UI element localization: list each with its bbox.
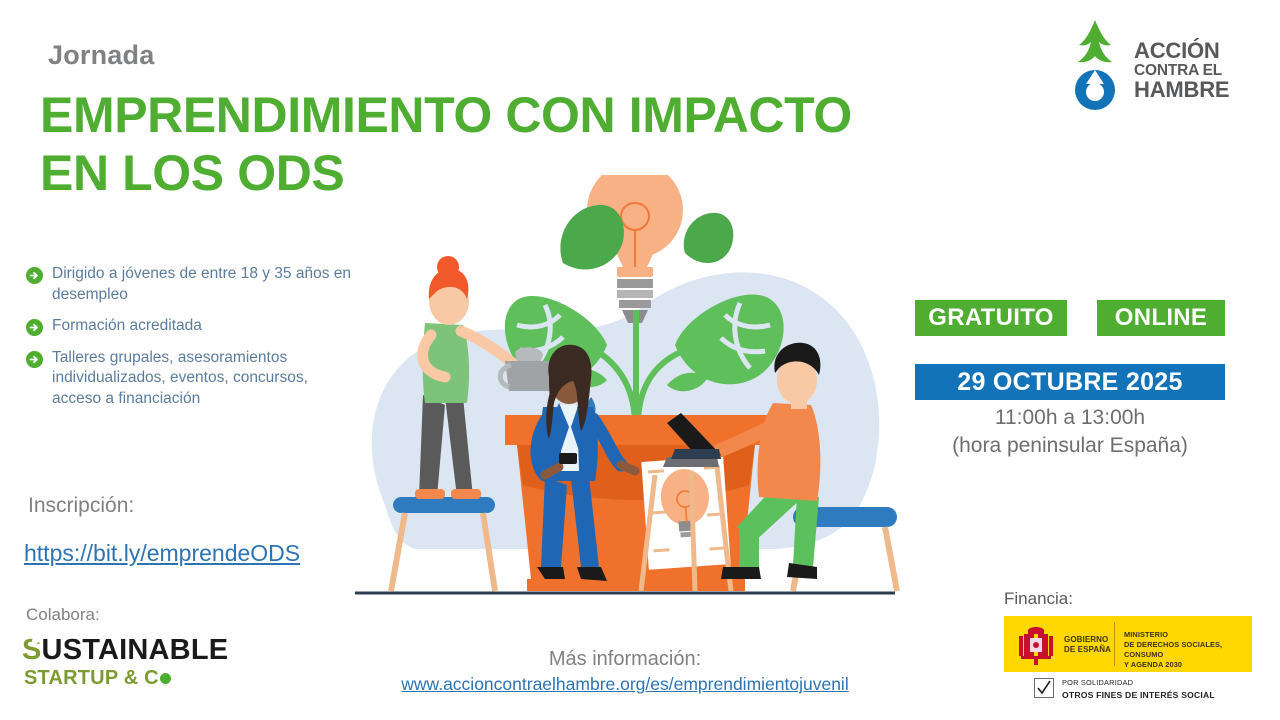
- logo-word-1: ACCIÓN: [1134, 40, 1229, 63]
- sustainable-logo-end-dot-icon: [160, 673, 171, 684]
- gobierno-de-espana-logo: GOBIERNO DE ESPAÑA MINISTERIO DE DERECHO…: [1004, 616, 1252, 704]
- sustainable-logo-line-2: STARTUP & C: [24, 667, 171, 690]
- gob-ministry-text: MINISTERIO DE DERECHOS SOCIALES, CONSUMO…: [1124, 630, 1252, 670]
- badge-event-date: 29 OCTUBRE 2025: [915, 364, 1225, 400]
- checkmark-icon: [1036, 680, 1052, 696]
- badge-online: ONLINE: [1097, 300, 1225, 336]
- list-item: Dirigido a jóvenes de entre 18 y 35 años…: [26, 264, 356, 305]
- more-info-link[interactable]: www.accioncontraelhambre.org/es/emprendi…: [345, 674, 905, 695]
- event-timezone: (hora peninsular España): [915, 432, 1225, 460]
- sustainable-logo-rest: USTAINABLE: [42, 634, 229, 666]
- registration-label: Inscripción:: [28, 494, 134, 518]
- more-info-label: Más información:: [345, 648, 905, 671]
- collaborator-label: Colabora:: [26, 605, 100, 625]
- ministry-line-1: MINISTERIO: [1124, 630, 1252, 640]
- page-title-line-1: EMPRENDIMIENTO CON IMPACTO: [40, 86, 1020, 144]
- badge-gratuito: GRATUITO: [915, 300, 1067, 336]
- solidarity-checkbox: [1034, 678, 1054, 698]
- feature-list: Dirigido a jóvenes de entre 18 y 35 años…: [26, 264, 356, 421]
- more-info-block: Más información: www.accioncontraelhambr…: [345, 648, 905, 695]
- funding-label: Financia:: [1004, 589, 1073, 609]
- list-item: Talleres grupales, asesoramientos indivi…: [26, 348, 356, 410]
- spain-coat-of-arms-icon: [1016, 624, 1056, 666]
- solidarity-text: POR SOLIDARIDAD OTROS FINES DE INTERÉS S…: [1062, 678, 1215, 701]
- accion-contra-el-hambre-logo: ACCIÓN CONTRA EL HAMBRE: [1062, 18, 1262, 114]
- list-item: Formación acreditada: [26, 316, 356, 337]
- logo-wordmark: ACCIÓN CONTRA EL HAMBRE: [1134, 40, 1229, 101]
- entrepreneurship-plant-illustration: [345, 175, 905, 610]
- ministry-line-2: DE DERECHOS SOCIALES, CONSUMO: [1124, 640, 1252, 660]
- event-schedule: 11:00h a 13:00h (hora peninsular España): [915, 404, 1225, 460]
- gob-divider: [1114, 622, 1115, 666]
- logo-word-3: HAMBRE: [1134, 79, 1229, 102]
- sustainable-logo-dot-icon: [32, 637, 39, 644]
- logo-mark-icon: [1062, 18, 1128, 112]
- sustainable-startup-logo: SUSTAINABLE STARTUP & C: [22, 634, 252, 704]
- gob-line-2: DE ESPAÑA: [1064, 645, 1111, 655]
- sustainable-logo-line-2-text: STARTUP & C: [24, 667, 159, 689]
- list-item-label: Talleres grupales, asesoramientos indivi…: [52, 348, 356, 410]
- circle-arrow-right-icon: [26, 267, 43, 284]
- gob-government-text: GOBIERNO DE ESPAÑA: [1064, 635, 1111, 655]
- sustainable-logo-line-1: SUSTAINABLE: [22, 634, 228, 667]
- registration-link[interactable]: https://bit.ly/emprendeODS: [24, 540, 300, 567]
- list-item-label: Formación acreditada: [52, 316, 202, 337]
- list-item-label: Dirigido a jóvenes de entre 18 y 35 años…: [52, 264, 356, 305]
- page-eyebrow: Jornada: [48, 40, 154, 71]
- gob-line-1: GOBIERNO: [1064, 635, 1111, 645]
- circle-arrow-right-icon: [26, 319, 43, 336]
- circle-arrow-right-icon: [26, 351, 43, 368]
- ministry-line-3: Y AGENDA 2030: [1124, 660, 1252, 670]
- event-time: 11:00h a 13:00h: [915, 404, 1225, 432]
- solidarity-line-2: OTROS FINES DE INTERÉS SOCIAL: [1062, 689, 1215, 701]
- solidarity-line-1: POR SOLIDARIDAD: [1062, 678, 1215, 689]
